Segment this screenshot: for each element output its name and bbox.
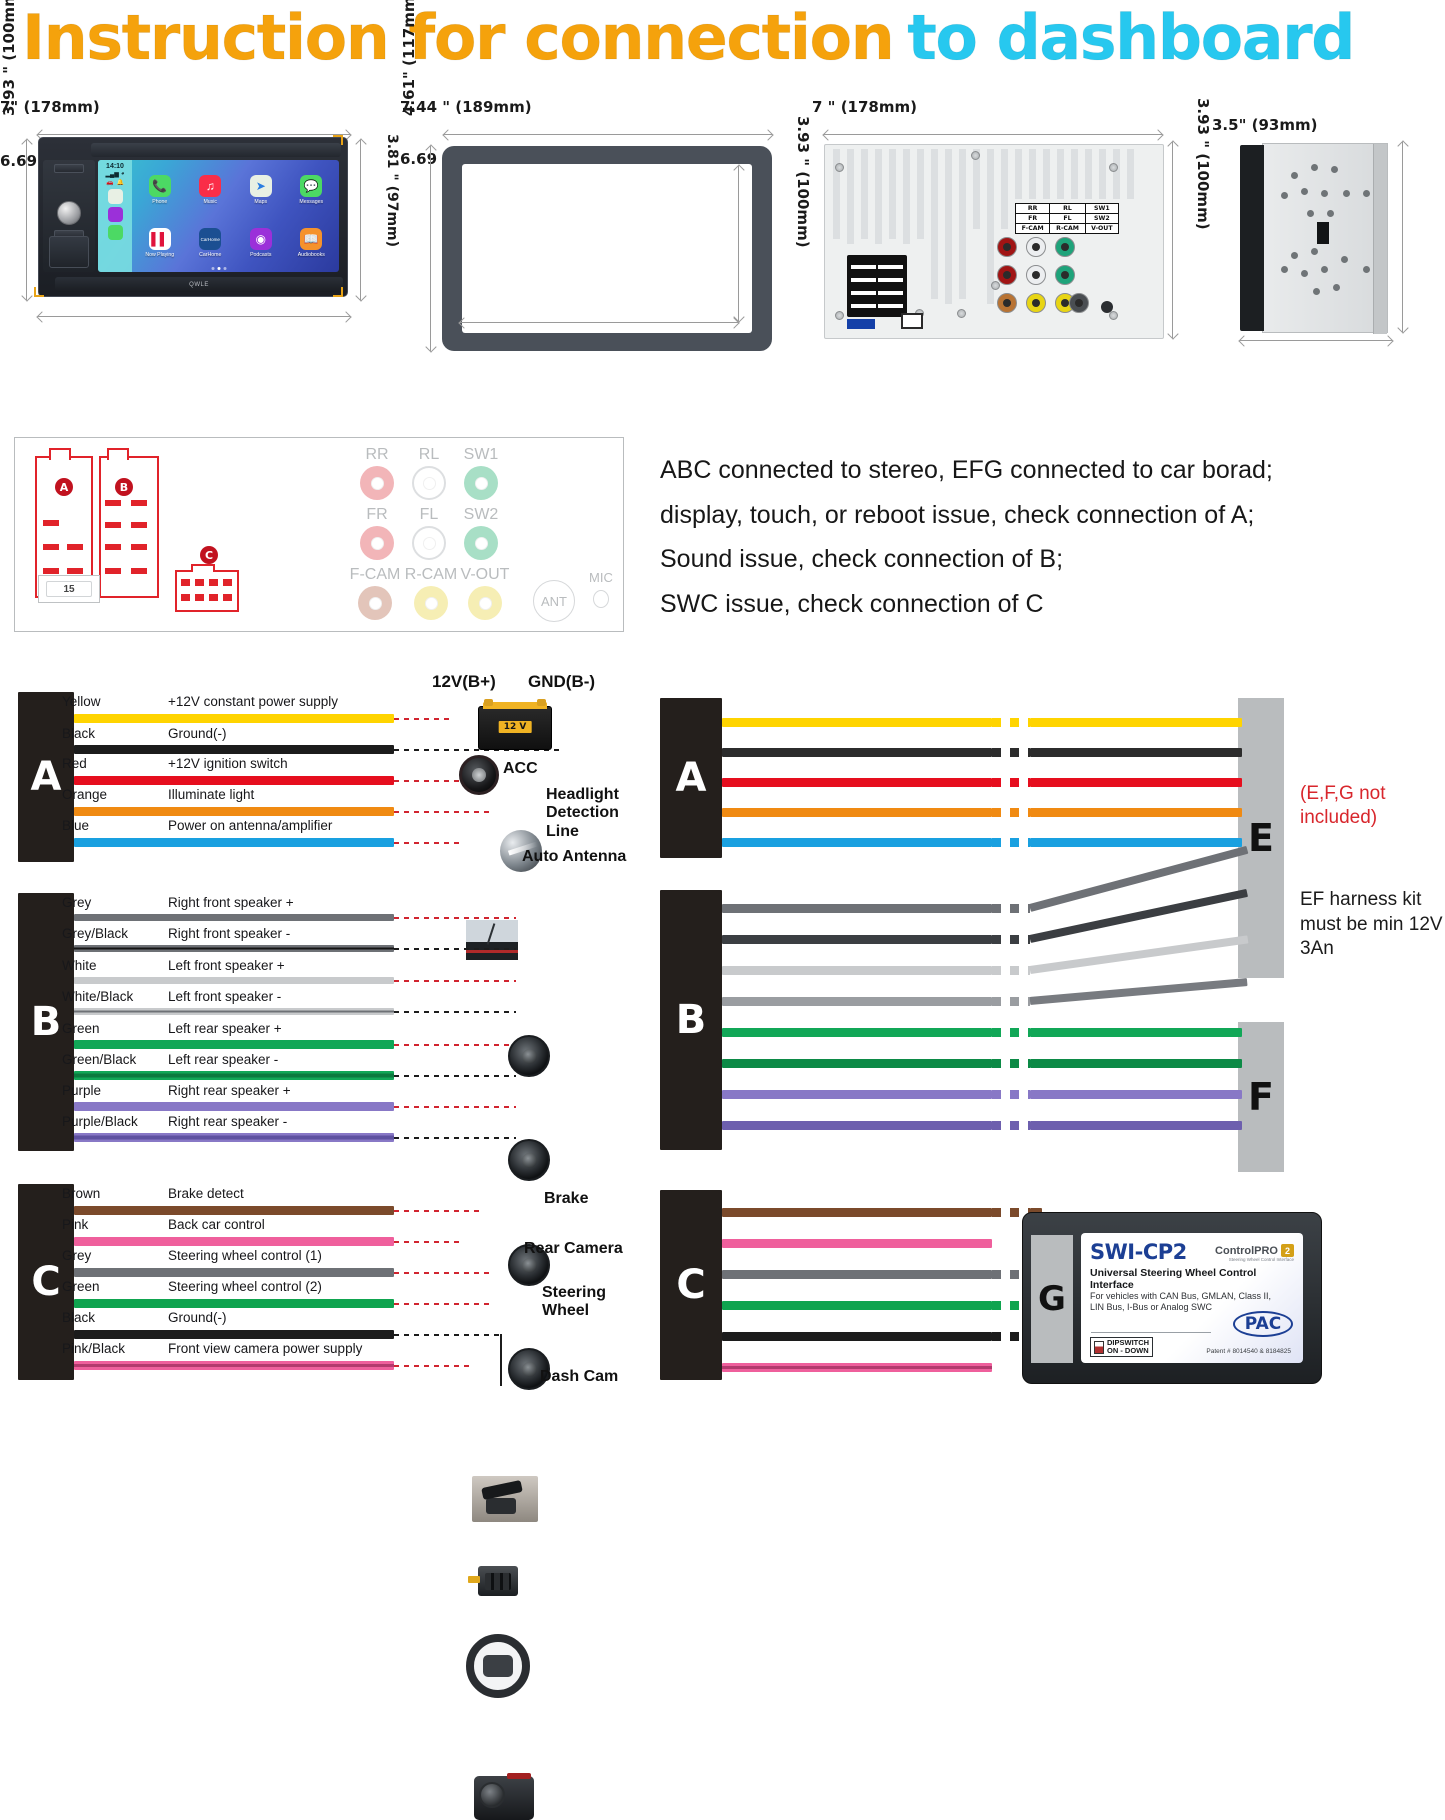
jack-label: FR bbox=[351, 506, 403, 524]
wire-function: Power on antenna/amplifier bbox=[168, 818, 332, 833]
heatsink-fin bbox=[903, 149, 910, 244]
troubleshooting-notes: ABC connected to stereo, EFG connected t… bbox=[660, 448, 1440, 626]
plug-pin bbox=[181, 594, 190, 601]
app-label: Podcasts bbox=[250, 252, 271, 258]
carplay-page-dots bbox=[211, 267, 226, 270]
table-row: F-CAM R-CAM V-OUT bbox=[1016, 224, 1119, 234]
harness-c-letter: C bbox=[31, 1259, 60, 1305]
rwire-yellow bbox=[1030, 718, 1242, 727]
jack-socket[interactable] bbox=[360, 526, 394, 560]
side-width-label: 3.5" (93mm) bbox=[1212, 116, 1445, 134]
dimension-diagrams: 7" (178mm) 3.93 " (100mm) 3.81 " (97mm) … bbox=[0, 98, 1445, 390]
wire-dots bbox=[394, 811, 490, 813]
app-label: Messages bbox=[299, 199, 323, 205]
legend-cell: FR bbox=[1016, 214, 1050, 224]
car-home-icon: CarHome bbox=[199, 228, 221, 250]
rear-view-panel: 7 " (178mm) 3.93 " (100mm) bbox=[812, 98, 1202, 390]
heatsink-fin bbox=[959, 149, 966, 299]
wire-function: Steering wheel control (2) bbox=[168, 1279, 322, 1294]
wire-function: +12V constant power supply bbox=[168, 694, 338, 709]
jack-label: SW1 bbox=[455, 446, 507, 464]
rwire-gap bbox=[992, 935, 1030, 944]
chassis-rear-lip bbox=[1373, 144, 1387, 334]
rca-row-2 bbox=[997, 265, 1075, 285]
wire-white bbox=[74, 977, 394, 984]
wire-function: Right front speaker + bbox=[168, 895, 294, 910]
plug-pin bbox=[105, 568, 121, 574]
plug-a-tab bbox=[49, 448, 71, 460]
not-included-note: (E,F,G not included) bbox=[1300, 782, 1445, 830]
ground-branch-line bbox=[500, 1334, 502, 1386]
module-divider bbox=[1091, 1332, 1211, 1333]
front-width-top-label: 7" (178mm) bbox=[0, 98, 390, 116]
screw-icon bbox=[1109, 163, 1118, 172]
rwire-purple-black bbox=[722, 1121, 992, 1130]
front-width-bottom-arrow bbox=[38, 316, 350, 317]
wire-function: Ground(-) bbox=[168, 726, 227, 741]
rwire-purple-black bbox=[1030, 1121, 1242, 1130]
wire-function: Right rear speaker + bbox=[168, 1083, 291, 1098]
power-button[interactable] bbox=[54, 164, 84, 173]
rwire-gap bbox=[992, 748, 1030, 757]
bezel-height-label: 4.61" (117mm) bbox=[400, 0, 418, 116]
head-unit-screen[interactable]: 14:10 ▂▄▆ ◕ 🚗 🔔 📞 P bbox=[98, 160, 339, 272]
battery-voltage-label: 12 V bbox=[499, 721, 532, 733]
wire-green bbox=[74, 1299, 394, 1308]
jack-rl[interactable]: RL bbox=[403, 446, 455, 500]
carplay-status-icons: ▂▄▆ ◕ bbox=[105, 171, 124, 178]
note-line: SWC issue, check connection of C bbox=[660, 582, 1440, 627]
mic-jack[interactable] bbox=[1101, 301, 1113, 313]
music-note-icon: ♫ bbox=[199, 175, 221, 197]
rwire-grey bbox=[722, 1270, 992, 1279]
plug-pin bbox=[131, 500, 147, 506]
connector-pin bbox=[851, 278, 876, 282]
wire-name: Green/Black bbox=[62, 1052, 136, 1067]
rear-jack-legend-table: RR RL SW1 FR FL SW2 F-CAM R-CAM V-OUT bbox=[1015, 203, 1119, 234]
jack-label: F-CAM bbox=[345, 566, 405, 584]
module-title: SWI-CP2 bbox=[1090, 1240, 1187, 1264]
legend-cell: SW2 bbox=[1085, 214, 1118, 224]
wifi-icon: ◕ bbox=[121, 171, 125, 178]
heatsink-fin bbox=[1057, 149, 1064, 199]
app-podcasts[interactable]: ◉ Podcasts bbox=[236, 217, 286, 269]
rear-width-arrow bbox=[824, 134, 1162, 135]
bezel-inner-height-arrow bbox=[738, 166, 739, 321]
module-brand-sub: Steering Wheel Control Interface bbox=[1215, 1257, 1294, 1262]
ef-harness-note: EF harness kit must be min 12V 3An bbox=[1300, 888, 1445, 962]
connector-pin bbox=[851, 265, 876, 269]
screw-icon bbox=[835, 311, 844, 320]
ant-socket[interactable]: ANT bbox=[533, 580, 575, 622]
legend-cell: RL bbox=[1050, 204, 1085, 214]
bezel-height-arrow bbox=[430, 146, 431, 351]
heatsink-fin bbox=[1043, 149, 1050, 199]
jack-socket[interactable] bbox=[464, 526, 498, 560]
wire-name: White bbox=[62, 958, 97, 973]
heatsink-fin bbox=[1085, 149, 1092, 199]
rca-fl[interactable] bbox=[1026, 265, 1046, 285]
heatsink-fin bbox=[1099, 149, 1106, 199]
rwire-green-black bbox=[1030, 1059, 1242, 1068]
rca-f-cam[interactable] bbox=[997, 293, 1017, 313]
wire-dots bbox=[394, 1210, 480, 1212]
module-detail-1: For vehicles with CAN Bus, GMLAN, Class … bbox=[1090, 1291, 1294, 1302]
jack-fr[interactable]: FR bbox=[351, 506, 403, 560]
wire-name: Pink/Black bbox=[62, 1341, 125, 1356]
plug-pin bbox=[131, 544, 147, 550]
wire-name: Purple bbox=[62, 1083, 101, 1098]
plug-pin bbox=[209, 594, 218, 601]
app-audiobooks[interactable]: 📖 Audiobooks bbox=[287, 217, 337, 269]
rwire-blue bbox=[722, 838, 992, 847]
rwire-white-black bbox=[722, 997, 992, 1006]
side-height-arrow bbox=[1402, 142, 1403, 332]
wire-name: Brown bbox=[62, 1186, 100, 1201]
wire-dots bbox=[394, 842, 460, 844]
speaker-icon bbox=[508, 1035, 550, 1077]
head-unit-button-panel[interactable] bbox=[43, 160, 95, 272]
bezel-view-panel: 7.44 " (189mm) 4.61" (117mm) 3.81 " (97m… bbox=[400, 98, 800, 390]
wire-function: Back car control bbox=[168, 1217, 265, 1232]
wire-function: +12V ignition switch bbox=[168, 756, 288, 771]
wire-red bbox=[74, 776, 394, 785]
rwire-gap bbox=[992, 1090, 1030, 1099]
right-block-f-letter: F bbox=[1248, 1075, 1274, 1119]
rca-fr[interactable] bbox=[997, 265, 1017, 285]
rwire-black bbox=[722, 748, 992, 757]
chassis-side bbox=[1262, 143, 1388, 333]
jack-f-cam[interactable]: F-CAM bbox=[345, 566, 405, 620]
brake-label: Brake bbox=[544, 1190, 588, 1208]
ignition-key-icon bbox=[459, 755, 499, 795]
rwire-gap bbox=[992, 1028, 1030, 1037]
jack-socket[interactable] bbox=[414, 586, 448, 620]
jack-r-cam[interactable]: R-CAM bbox=[401, 566, 461, 620]
jack-socket[interactable] bbox=[412, 526, 446, 560]
heatsink-fin bbox=[1015, 149, 1022, 199]
right-block-e-letter: E bbox=[1248, 816, 1274, 860]
jack-label: SW2 bbox=[455, 506, 507, 524]
podcasts-icon: ◉ bbox=[250, 228, 272, 250]
carplay-clock: 14:10 bbox=[106, 163, 124, 170]
wire-green-black bbox=[74, 1071, 394, 1080]
wire-black bbox=[74, 745, 394, 754]
rca-rr[interactable] bbox=[997, 237, 1017, 257]
acc-label: ACC bbox=[503, 760, 538, 778]
blue-connector bbox=[847, 319, 875, 329]
rear-wire-connector bbox=[847, 255, 907, 317]
bell-icon: 🔔 bbox=[117, 179, 124, 186]
wire-dots bbox=[394, 1075, 516, 1077]
jack-sw2[interactable]: SW2 bbox=[455, 506, 507, 560]
legend-cell: SW1 bbox=[1085, 204, 1118, 214]
jack-v-out[interactable]: V-OUT bbox=[455, 566, 515, 620]
rwire-gap bbox=[992, 966, 1030, 975]
heatsink-fin bbox=[1001, 149, 1008, 229]
module-label: SWI-CP2 ControlPRO 2 Steering Wheel Cont… bbox=[1081, 1233, 1303, 1363]
screw-icon bbox=[835, 163, 844, 172]
steering-wheel-icon bbox=[466, 1634, 530, 1698]
rwire-green bbox=[722, 1301, 992, 1310]
wire-grey-black bbox=[74, 945, 394, 952]
antenna-jack[interactable] bbox=[1069, 293, 1089, 313]
mic-socket[interactable] bbox=[593, 590, 609, 608]
app-label: CarHome bbox=[199, 252, 221, 258]
wire-purple-black bbox=[74, 1133, 394, 1142]
car-battery-icon: 12 V bbox=[478, 706, 552, 750]
volume-knob[interactable] bbox=[57, 201, 81, 225]
front-height-right-arrow bbox=[360, 140, 361, 300]
plug-pin bbox=[195, 579, 204, 586]
sidebar-podcasts-icon[interactable] bbox=[108, 207, 123, 222]
right-block-b-letter: B bbox=[676, 997, 707, 1043]
maps-icon: ➤ bbox=[250, 175, 272, 197]
heatsink-fin bbox=[973, 149, 980, 229]
head-unit-bottom-bar: QWLE bbox=[55, 277, 343, 292]
jack-socket[interactable] bbox=[358, 586, 392, 620]
module-g-tab: G bbox=[1031, 1235, 1073, 1363]
app-now-playing[interactable]: ▌▌ Now Playing bbox=[135, 217, 185, 269]
rca-sw2[interactable] bbox=[1055, 265, 1075, 285]
faceplate-edge bbox=[1240, 145, 1264, 331]
fuse-value: 15 bbox=[46, 581, 92, 597]
jack-label: R-CAM bbox=[401, 566, 461, 584]
jack-label: RL bbox=[403, 446, 455, 464]
wire-name: Orange bbox=[62, 787, 107, 802]
page-title-part2: to dashboard bbox=[907, 7, 1354, 69]
heatsink-fin bbox=[917, 149, 924, 239]
wire-purple bbox=[74, 1102, 394, 1111]
plug-pin bbox=[131, 568, 147, 574]
head-unit-side bbox=[1240, 143, 1410, 333]
heatsink-fin bbox=[875, 149, 882, 244]
rwire-red bbox=[1030, 778, 1242, 787]
dash-cam-icon bbox=[474, 1776, 534, 1820]
legend-cell: F-CAM bbox=[1016, 224, 1050, 234]
rwire-orange bbox=[722, 808, 992, 817]
wire-name: Blue bbox=[62, 818, 89, 833]
rwire-green-black bbox=[722, 1059, 992, 1068]
plug-pin bbox=[105, 500, 121, 506]
heatsink-fin bbox=[1127, 149, 1134, 199]
wire-function: Illuminate light bbox=[168, 787, 254, 802]
app-messages[interactable]: 💬 Messages bbox=[287, 164, 337, 216]
carplay-app-grid[interactable]: 📞 Phone ♫ Music ➤ Maps 💬 Messages bbox=[132, 160, 339, 272]
wire-name: Grey bbox=[62, 1248, 91, 1263]
jack-socket[interactable] bbox=[464, 466, 498, 500]
wire-pink-black bbox=[74, 1361, 394, 1370]
pac-logo: PAC bbox=[1233, 1311, 1293, 1337]
bezel-opening bbox=[462, 164, 752, 333]
wire-function: Left rear speaker + bbox=[168, 1021, 282, 1036]
rwire-gap bbox=[992, 808, 1030, 817]
rwire-green bbox=[722, 1028, 992, 1037]
head-unit-rear: RR RL SW1 FR FL SW2 F-CAM R-CAM V-OUT bbox=[824, 144, 1164, 339]
sidebar-messages-icon[interactable] bbox=[108, 225, 123, 240]
rwire-brown bbox=[722, 1208, 992, 1217]
wire-dots bbox=[394, 1272, 490, 1274]
app-maps[interactable]: ➤ Maps bbox=[236, 164, 286, 216]
wire-function: Ground(-) bbox=[168, 1310, 227, 1325]
module-brand-badge: 2 bbox=[1281, 1244, 1294, 1257]
wire-function: Right rear speaker - bbox=[168, 1114, 287, 1129]
jack-fl[interactable]: FL bbox=[403, 506, 455, 560]
table-row: FR FL SW2 bbox=[1016, 214, 1119, 224]
wire-name: Grey bbox=[62, 895, 91, 910]
usb-port bbox=[901, 313, 923, 329]
rwire-purple bbox=[722, 1090, 992, 1099]
wire-name: Green bbox=[62, 1021, 100, 1036]
connector-pin bbox=[878, 278, 903, 282]
rwire-pink-black bbox=[722, 1363, 992, 1372]
app-music[interactable]: ♫ Music bbox=[186, 164, 236, 216]
corner-mark-icon bbox=[333, 135, 343, 145]
wire-function: Brake detect bbox=[168, 1186, 244, 1201]
rca-rl[interactable] bbox=[1026, 237, 1046, 257]
note-line: Sound issue, check connection of B; bbox=[660, 537, 1440, 582]
wire-name: White/Black bbox=[62, 989, 133, 1004]
right-block-a-letter: A bbox=[676, 755, 707, 801]
rwire-blue bbox=[1030, 838, 1242, 847]
mounting-bezel bbox=[442, 146, 772, 351]
audiobooks-icon: 📖 bbox=[300, 228, 322, 250]
speaker-icon bbox=[508, 1139, 550, 1181]
wire-function: Steering wheel control (1) bbox=[168, 1248, 322, 1263]
wire-blue bbox=[74, 838, 394, 847]
harness-b-diagram: B Grey Right front speaker + Grey/Black … bbox=[18, 893, 648, 1155]
rwire-yellow bbox=[722, 718, 992, 727]
wire-function: Left rear speaker - bbox=[168, 1052, 278, 1067]
plug-pin bbox=[181, 579, 190, 586]
page-title-part1: Instruction for connection bbox=[22, 7, 893, 69]
corner-mark-icon bbox=[34, 287, 44, 297]
media-slot[interactable] bbox=[49, 236, 89, 268]
rwire-black bbox=[1030, 748, 1242, 757]
now-playing-icon: ▌▌ bbox=[149, 228, 171, 250]
dipswitch-line-2: ON - DOWN bbox=[1107, 1347, 1149, 1355]
plug-c-outline bbox=[175, 570, 239, 612]
wire-yellow bbox=[74, 714, 394, 723]
mic-label: MIC bbox=[589, 570, 613, 585]
brand-label: QWLE bbox=[189, 282, 209, 288]
plug-pin bbox=[43, 568, 59, 574]
heatsink-fin bbox=[847, 149, 854, 244]
wire-name: Red bbox=[62, 756, 87, 771]
heatsink-fin bbox=[945, 149, 952, 304]
page-dot-active bbox=[217, 267, 220, 270]
rwire-red bbox=[722, 778, 992, 787]
heatsink-fin bbox=[861, 149, 868, 239]
plug-pin bbox=[223, 579, 232, 586]
front-height-left-label: 3.93 " (100mm) bbox=[0, 0, 18, 116]
corner-mark-icon bbox=[333, 287, 343, 297]
wire-function: Front view camera power supply bbox=[168, 1341, 362, 1356]
jack-socket[interactable] bbox=[468, 586, 502, 620]
wire-name: Grey/Black bbox=[62, 926, 128, 941]
wire-dots bbox=[394, 1011, 516, 1013]
front-view-panel: 7" (178mm) 3.93 " (100mm) 3.81 " (97mm) … bbox=[0, 98, 390, 390]
wire-grey bbox=[74, 1268, 394, 1277]
dipswitch-icon bbox=[1094, 1341, 1104, 1354]
app-label: Music bbox=[203, 199, 217, 205]
heatsink-fin bbox=[889, 149, 896, 239]
side-width-arrow bbox=[1240, 340, 1392, 341]
rca-r-cam[interactable] bbox=[1026, 293, 1046, 313]
page-title-bar: Instruction for connection to dashboard bbox=[0, 0, 1445, 76]
rear-height-arrow bbox=[1172, 142, 1173, 338]
front-width-top-arrow bbox=[38, 134, 350, 135]
app-label: Audiobooks bbox=[298, 252, 325, 258]
bezel-width-arrow bbox=[444, 134, 772, 135]
side-slot bbox=[1317, 222, 1329, 244]
app-carhome[interactable]: CarHome CarHome bbox=[186, 217, 236, 269]
legend-cell: R-CAM bbox=[1050, 224, 1085, 234]
harness-b-letter: B bbox=[31, 999, 62, 1045]
connector-pin bbox=[878, 304, 903, 308]
screw-icon bbox=[1109, 311, 1118, 320]
rwire-orange bbox=[1030, 808, 1242, 817]
harness-a-letter: A bbox=[31, 754, 62, 800]
rwire-gap bbox=[992, 1121, 1030, 1130]
page-dot bbox=[223, 267, 226, 270]
connector-pin bbox=[878, 265, 903, 269]
jack-socket[interactable] bbox=[360, 466, 394, 500]
sidebar-maps-icon[interactable] bbox=[108, 189, 123, 204]
plug-pin bbox=[105, 522, 121, 528]
head-unit-top-bar bbox=[91, 143, 341, 157]
rwire-gap bbox=[992, 1059, 1030, 1068]
rca-row-3 bbox=[997, 293, 1075, 313]
plug-c-tab bbox=[191, 564, 215, 572]
heatsink-fin bbox=[1113, 149, 1120, 199]
app-label: Phone bbox=[152, 199, 167, 205]
rca-sw1[interactable] bbox=[1055, 237, 1075, 257]
rear-camera-label: Rear Camera bbox=[524, 1240, 623, 1258]
ant-label: ANT bbox=[541, 594, 567, 609]
wire-dots bbox=[394, 1106, 516, 1108]
wire-dots bbox=[394, 718, 454, 720]
carplay-sidebar: 14:10 ▂▄▆ ◕ 🚗 🔔 bbox=[98, 160, 132, 272]
rear-camera-icon bbox=[478, 1566, 518, 1596]
jack-sw1[interactable]: SW1 bbox=[455, 446, 507, 500]
wire-dots bbox=[394, 1241, 462, 1243]
head-unit-front: 14:10 ▂▄▆ ◕ 🚗 🔔 📞 P bbox=[38, 137, 348, 297]
steering-wheel-label: Steering Wheel bbox=[542, 1284, 632, 1321]
wire-dots bbox=[394, 780, 460, 782]
right-block-c: C bbox=[660, 1190, 722, 1380]
wire-white-black bbox=[74, 1008, 394, 1015]
rwire-pink bbox=[722, 1239, 992, 1248]
rwire-gap bbox=[992, 997, 1030, 1006]
battery-negative-label: GND(B-) bbox=[528, 672, 595, 692]
note-line: ABC connected to stereo, EFG connected t… bbox=[660, 448, 1440, 493]
wire-function: Left front speaker - bbox=[168, 989, 281, 1004]
rwire-grey-black bbox=[722, 935, 992, 944]
wire-function: Left front speaker + bbox=[168, 958, 285, 973]
jack-socket[interactable] bbox=[412, 466, 446, 500]
wire-name: Pink bbox=[62, 1217, 88, 1232]
right-block-a: A bbox=[660, 698, 722, 858]
rwire-purple bbox=[1030, 1090, 1242, 1099]
headlight-label: Headlight Detection Line bbox=[546, 786, 642, 841]
rwire-black bbox=[722, 1332, 992, 1341]
app-phone[interactable]: 📞 Phone bbox=[135, 164, 185, 216]
plug-pin bbox=[43, 544, 59, 550]
patent-text: Patent # 8014540 & 8184825 bbox=[1206, 1348, 1291, 1355]
side-view-panel: 3.93 " (100mm) 3.5" (93mm) bbox=[1212, 98, 1445, 390]
jack-rr[interactable]: RR bbox=[351, 446, 403, 500]
